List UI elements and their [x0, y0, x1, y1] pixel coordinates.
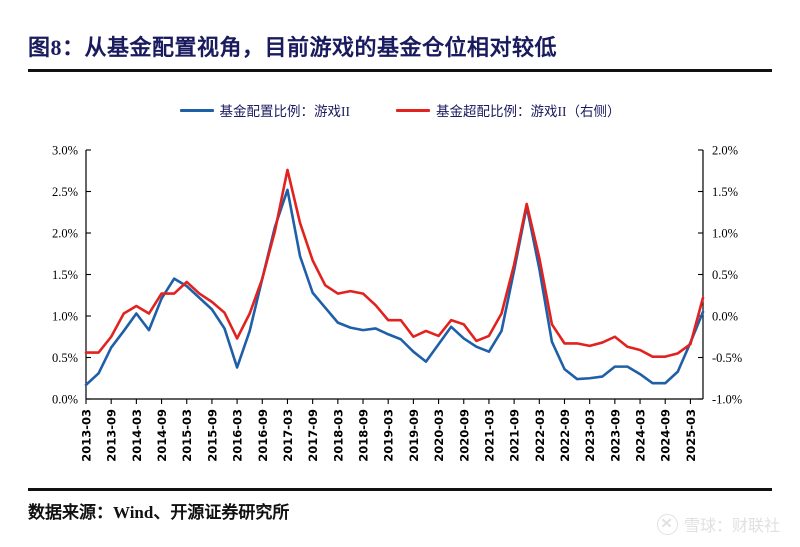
title-block: 图8：从基金配置视角，目前游戏的基金仓位相对较低: [28, 30, 772, 72]
x-axis-tick-label: 2017-03: [281, 409, 295, 462]
legend-label-overweight: 基金超配比例：游戏II（右侧）: [436, 100, 621, 120]
x-axis-tick-label: 2022-03: [533, 409, 547, 462]
x-axis-tick-label: 2013-09: [105, 409, 119, 462]
x-axis-tick-label: 2024-03: [634, 409, 648, 462]
figure-container: 图8：从基金配置视角，目前游戏的基金仓位相对较低 基金配置比例：游戏II 基金超…: [0, 0, 800, 547]
x-axis-tick-label: 2022-09: [558, 409, 572, 462]
x-axis-tick-label: 2014-09: [155, 409, 169, 462]
x-axis-tick-label: 2019-03: [382, 409, 396, 462]
x-axis-ticks: 2013-032013-092014-032014-092015-032015-…: [80, 399, 698, 462]
source-note: 数据来源：Wind、开源证券研究所: [28, 498, 289, 523]
legend-swatch-blue-icon: [180, 109, 214, 112]
x-axis-tick-label: 2025-03: [684, 409, 698, 462]
x-axis-tick-label: 2016-09: [256, 409, 270, 462]
chart-legend: 基金配置比例：游戏II 基金超配比例：游戏II（右侧）: [0, 100, 800, 120]
right-axis-tick-label: -0.5%: [712, 351, 742, 365]
right-axis-tick-label: 1.5%: [712, 185, 738, 199]
right-axis-tick-label: 0.5%: [712, 268, 738, 282]
x-axis-tick-label: 2024-09: [659, 409, 673, 462]
series-group: [86, 170, 703, 385]
right-axis-tick-label: 2.0%: [712, 144, 738, 158]
x-axis-tick-label: 2018-09: [357, 409, 371, 462]
x-axis-tick-label: 2021-09: [508, 409, 522, 462]
legend-label-allocation: 基金配置比例：游戏II: [220, 100, 351, 120]
left-axis-ticks: 0.0%0.5%1.0%1.5%2.0%2.5%3.0%: [52, 144, 703, 407]
x-axis-tick-label: 2019-09: [407, 409, 421, 462]
x-axis-tick-label: 2020-09: [457, 409, 471, 462]
right-axis-tick-label: -1.0%: [712, 393, 742, 407]
left-axis-tick-label: 2.5%: [52, 185, 78, 199]
page-title: 图8：从基金配置视角，目前游戏的基金仓位相对较低: [28, 30, 772, 62]
x-axis-tick-label: 2023-09: [608, 409, 622, 462]
x-axis-tick-label: 2013-03: [80, 409, 94, 462]
watermark-label: 雪球：财联社: [684, 512, 780, 536]
x-axis-tick-label: 2020-03: [432, 409, 446, 462]
line-chart-svg: 0.0%0.5%1.0%1.5%2.0%2.5%3.0% -1.0%-0.5%0…: [0, 128, 800, 478]
left-axis-tick-label: 2.0%: [52, 227, 78, 241]
left-axis-tick-label: 1.0%: [52, 310, 78, 324]
x-axis-tick-label: 2023-03: [583, 409, 597, 462]
xueqiu-logo-icon: [657, 514, 678, 535]
x-axis-tick-label: 2017-09: [306, 409, 320, 462]
series-line-overweight: [86, 170, 703, 357]
x-axis-tick-label: 2018-03: [331, 409, 345, 462]
legend-item-overweight: 基金超配比例：游戏II（右侧）: [396, 100, 621, 120]
x-axis-tick-label: 2015-09: [205, 409, 219, 462]
x-axis-tick-label: 2021-03: [482, 409, 496, 462]
right-axis-ticks: -1.0%-0.5%0.0%0.5%1.0%1.5%2.0%: [698, 144, 742, 407]
x-axis-tick-label: 2016-03: [231, 409, 245, 462]
x-axis-tick-label: 2014-03: [130, 409, 144, 462]
plot-area: 0.0%0.5%1.0%1.5%2.0%2.5%3.0% -1.0%-0.5%0…: [0, 128, 800, 478]
left-axis-tick-label: 3.0%: [52, 144, 78, 158]
right-axis-tick-label: 0.0%: [712, 310, 738, 324]
series-line-allocation: [86, 190, 703, 385]
left-axis-tick-label: 1.5%: [52, 268, 78, 282]
left-axis-tick-label: 0.5%: [52, 351, 78, 365]
watermark: 雪球：财联社: [657, 512, 780, 536]
title-divider: [28, 69, 772, 72]
legend-swatch-red-icon: [396, 109, 430, 112]
right-axis-tick-label: 1.0%: [712, 227, 738, 241]
x-axis-tick-label: 2015-03: [180, 409, 194, 462]
footer-divider: [28, 488, 772, 491]
left-axis-tick-label: 0.0%: [52, 393, 78, 407]
legend-item-allocation: 基金配置比例：游戏II: [180, 100, 351, 120]
